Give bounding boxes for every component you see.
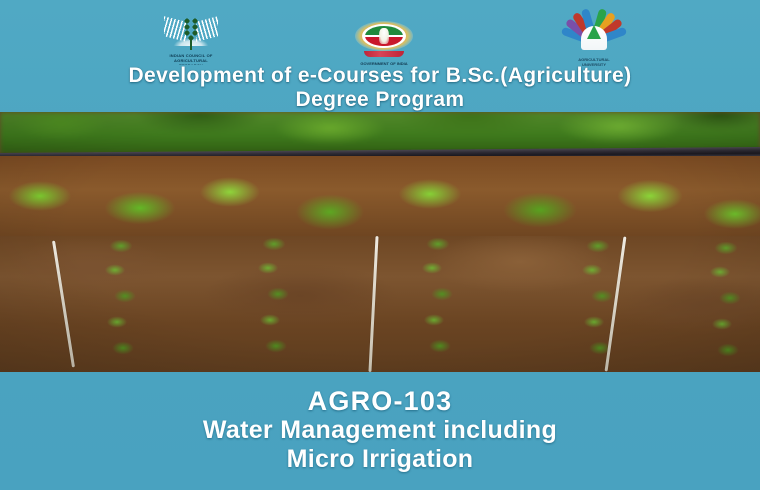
course-title: Water Management including Micro Irrigat… [0, 416, 760, 474]
course-code: AGRO-103 [0, 386, 760, 416]
course-cover-page: INDIAN COUNCIL OF AGRICULTURAL RESEARCH … [0, 0, 760, 490]
header-title: Development of e-Courses for B.Sc.(Agric… [0, 64, 760, 112]
footer-title-block: AGRO-103 Water Management including Micr… [0, 372, 760, 490]
photo-crop-row [572, 240, 626, 372]
icar-stem-icon [190, 38, 192, 50]
photo-foreground-foliage [0, 156, 760, 240]
national-emblem-logo: GOVERNMENT OF INDIA [355, 14, 413, 64]
header-title-line1: Development of e-Courses for B.Sc.(Agric… [128, 64, 631, 87]
course-title-line2: Micro Irrigation [0, 445, 760, 474]
photo-crop-row [412, 238, 466, 372]
header-banner: INDIAN COUNCIL OF AGRICULTURAL RESEARCH … [0, 0, 760, 112]
logo-row: INDIAN COUNCIL OF AGRICULTURAL RESEARCH … [0, 14, 760, 64]
seal-ribbon-icon [364, 51, 404, 57]
seal-center-emblem-icon [379, 28, 389, 44]
course-title-line1: Water Management including [0, 416, 760, 445]
star-triangle-icon [587, 25, 601, 39]
photo-crop-row [248, 238, 302, 372]
photo-crop-row [700, 242, 754, 372]
icar-logo: INDIAN COUNCIL OF AGRICULTURAL RESEARCH [163, 14, 219, 64]
agri-university-star-logo: AGRICULTURAL UNIVERSITY [557, 14, 631, 64]
header-title-line2: Degree Program [0, 88, 760, 112]
drip-irrigation-field-photo: 10 01 2005 12 5 [0, 112, 760, 372]
photo-crop-row [95, 240, 149, 372]
